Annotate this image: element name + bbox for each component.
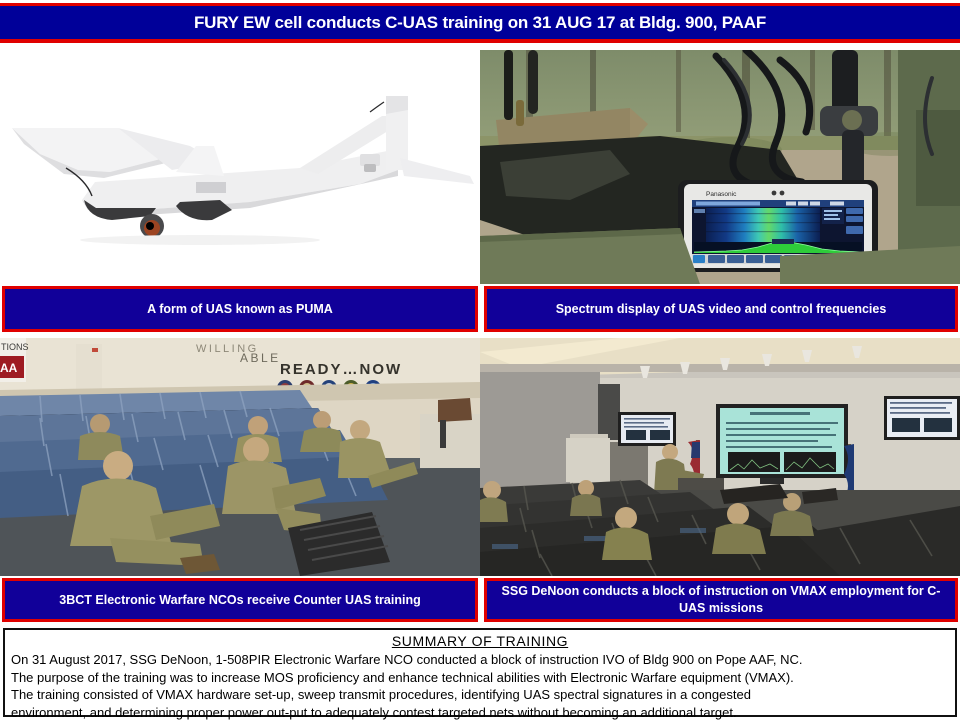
wall-text-tions: TIONS	[1, 342, 29, 352]
tablet-brand-text: Panasonic	[706, 191, 737, 198]
photo-spectrum-display: Panasonic	[480, 50, 960, 284]
summary-line: On 31 August 2017, SSG DeNoon, 1-508PIR …	[11, 651, 949, 669]
caption-text: Spectrum display of UAS video and contro…	[556, 301, 887, 318]
wall-text-aa: AA	[0, 361, 18, 375]
caption-text: 3BCT Electronic Warfare NCOs receive Cou…	[59, 592, 420, 609]
photo-vmax-instruction	[480, 338, 960, 576]
slide-title-bar: FURY EW cell conducts C-UAS training on …	[0, 3, 960, 43]
summary-body: On 31 August 2017, SSG DeNoon, 1-508PIR …	[11, 651, 949, 721]
wall-text-ready-now: READY…NOW	[280, 361, 402, 378]
photo-puma-uas	[0, 50, 480, 284]
photo-ew-nco-training: WILLING ABLE READY…NOW TIONS AA	[0, 338, 480, 576]
summary-line: The training consisted of VMAX hardware …	[11, 686, 949, 704]
spectrum-display-photo: Panasonic	[480, 50, 960, 284]
summary-line: The purpose of the training was to incre…	[11, 669, 949, 687]
caption-ew-nco-training: 3BCT Electronic Warfare NCOs receive Cou…	[2, 578, 478, 622]
briefing-slide: FURY EW cell conducts C-UAS training on …	[0, 0, 960, 720]
wall-text-able: ABLE	[240, 351, 281, 365]
summary-heading: SUMMARY OF TRAINING	[11, 633, 949, 649]
caption-vmax-instruction: SSG DeNoon conducts a block of instructi…	[484, 578, 958, 622]
summary-box: SUMMARY OF TRAINING On 31 August 2017, S…	[3, 628, 957, 717]
puma-uas-illustration	[0, 50, 480, 284]
caption-puma-uas: A form of UAS known as PUMA	[2, 286, 478, 332]
page-title: FURY EW cell conducts C-UAS training on …	[194, 13, 766, 33]
caption-text: SSG DeNoon conducts a block of instructi…	[495, 583, 947, 617]
auditorium-photo: WILLING ABLE READY…NOW TIONS AA	[0, 338, 480, 576]
summary-line: environment, and determining proper powe…	[11, 704, 949, 721]
classroom-photo	[480, 338, 960, 576]
caption-spectrum-display: Spectrum display of UAS video and contro…	[484, 286, 958, 332]
caption-text: A form of UAS known as PUMA	[147, 301, 333, 318]
